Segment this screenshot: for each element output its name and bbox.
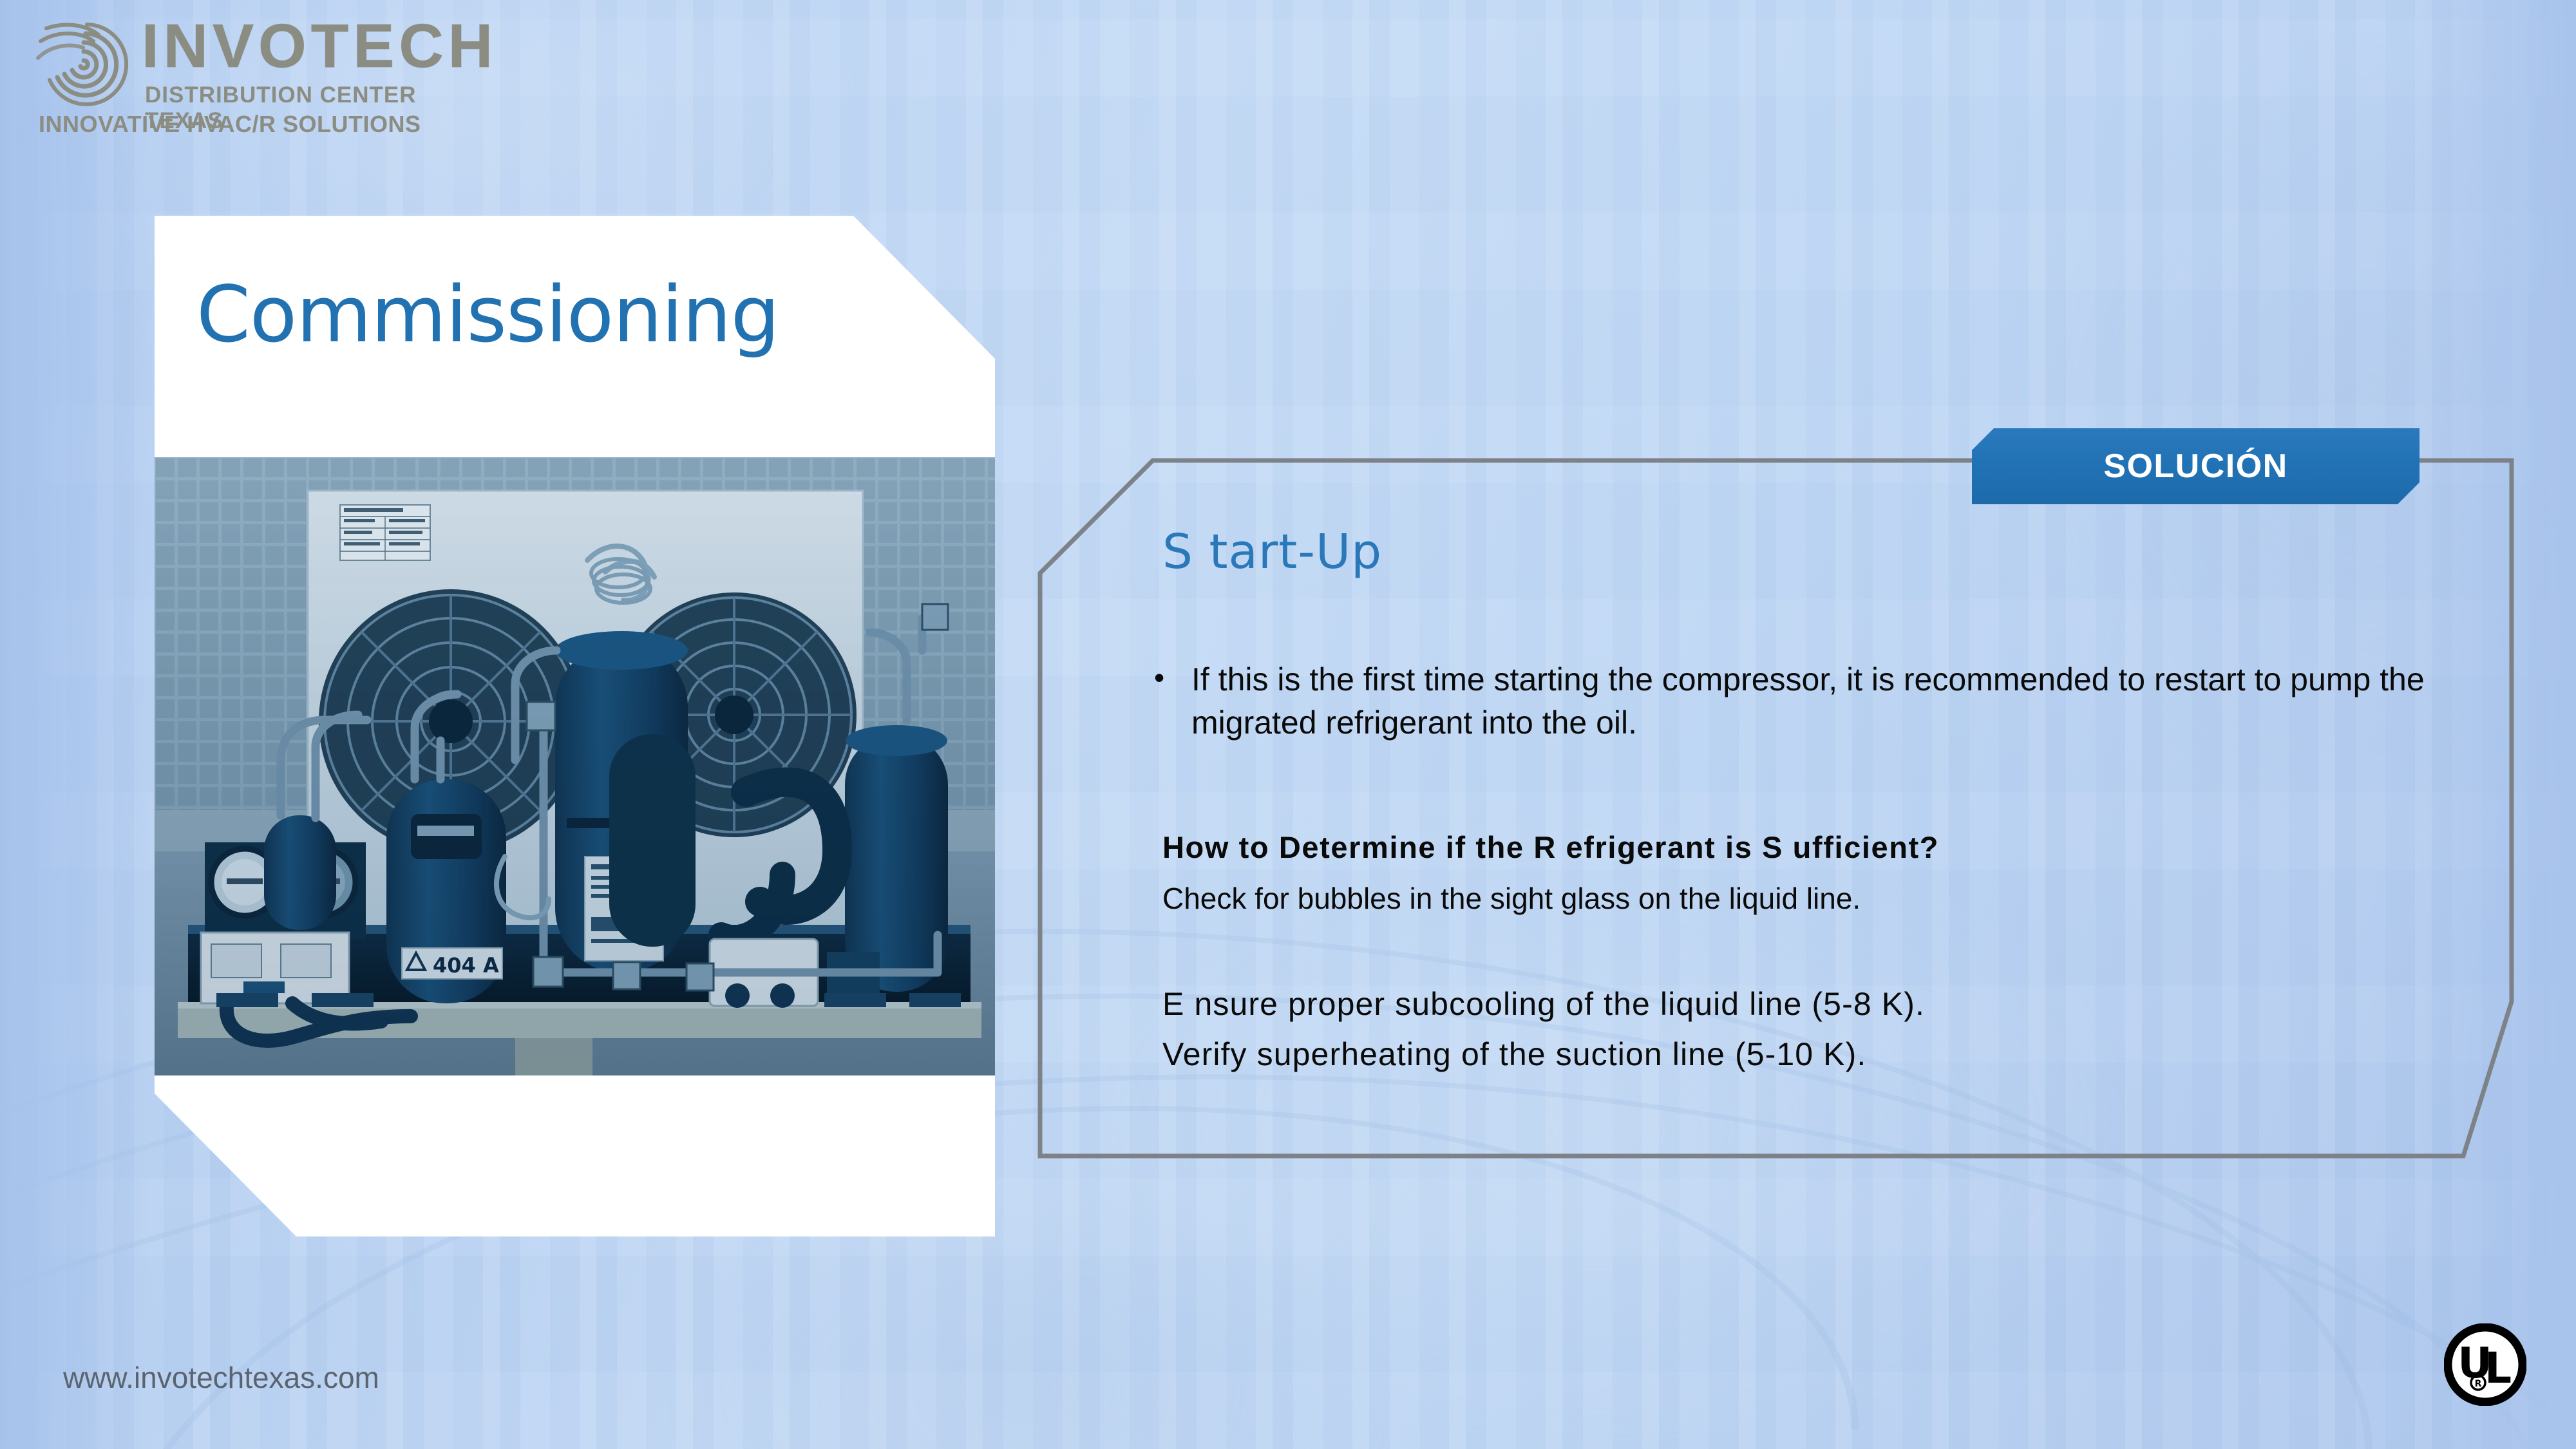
svg-text:L: L: [2485, 1343, 2512, 1393]
superheating-line: Verify superheating of the suction line …: [1162, 1036, 1866, 1073]
presentation-slide: INVOTECH DISTRIBUTION CENTER TEXAS INNOV…: [0, 0, 2576, 1449]
background-left-edge-shade: [0, 0, 148, 1449]
status-badge: SOLUCIÓN: [1972, 428, 2420, 504]
list-item: • If this is the first time starting the…: [1140, 658, 2499, 744]
question-answer: Check for bubbles in the sight glass on …: [1162, 881, 1861, 916]
spiral-swirl-icon: [35, 18, 132, 111]
bullet-marker-icon: •: [1140, 658, 1191, 744]
ul-certification-icon: U L R: [2444, 1323, 2526, 1406]
section-heading: S tart-Up: [1162, 528, 1382, 576]
status-badge-label: SOLUCIÓN: [2103, 447, 2287, 486]
question-heading: How to Determine if the R efrigerant is …: [1162, 829, 1939, 865]
bullet-text: If this is the first time starting the c…: [1191, 658, 2499, 744]
svg-text:404 A: 404 A: [433, 953, 499, 978]
brand-tagline-secondary: INNOVATIVE HVAC/R SOLUTIONS: [39, 111, 421, 138]
subcooling-line: E nsure proper subcooling of the liquid …: [1162, 985, 1925, 1023]
footer-website-url[interactable]: www.invotechtexas.com: [63, 1360, 379, 1395]
condensing-unit-photo: 404 A: [155, 457, 995, 1075]
svg-text:R: R: [2475, 1379, 2482, 1389]
brand-logo: INVOTECH DISTRIBUTION CENTER TEXAS INNOV…: [35, 13, 448, 142]
brand-wordmark: INVOTECH: [142, 15, 497, 77]
page-title: Commissioning: [196, 277, 779, 354]
